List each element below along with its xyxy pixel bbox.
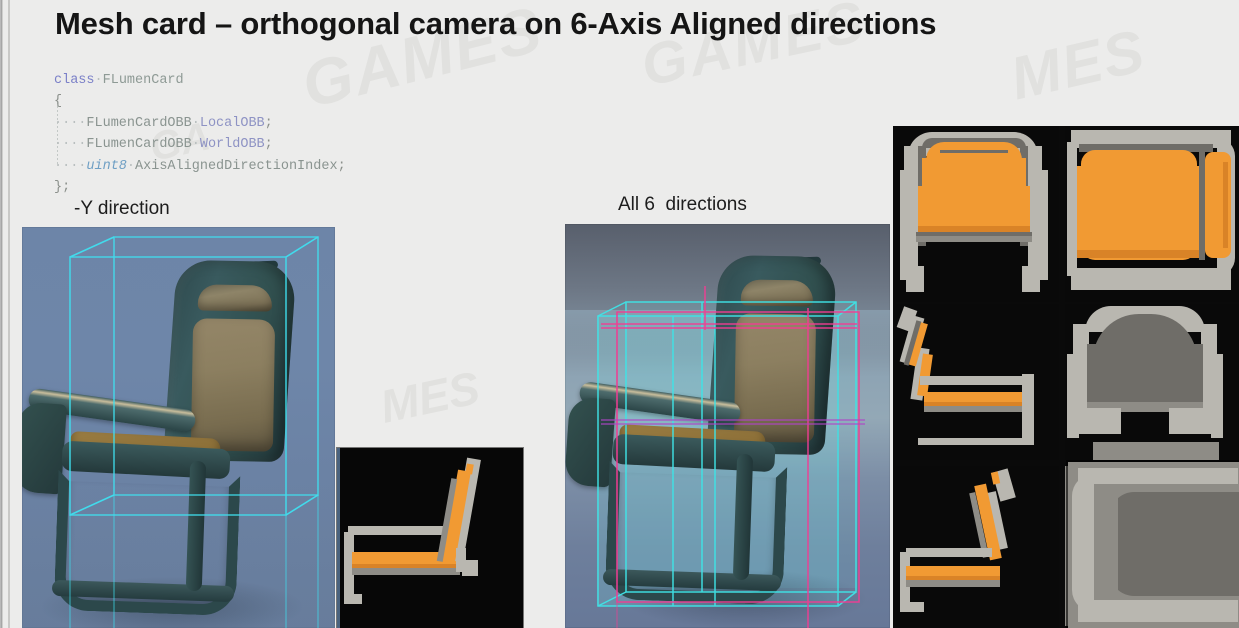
code-token-member: AxisAlignedDirectionIndex — [135, 159, 338, 174]
code-token-indent: ···· — [54, 116, 86, 131]
code-token-space: · — [127, 159, 135, 174]
card-cell-side-minus-x[interactable] — [896, 304, 1059, 460]
code-token-space: · — [192, 137, 200, 152]
code-token-semicolon: ; — [265, 137, 273, 152]
card-cell-side-plus-x[interactable] — [896, 466, 1059, 628]
code-token-keyword: class — [54, 73, 95, 88]
code-token-semicolon: ; — [265, 116, 273, 131]
code-token-identifier: WorldOBB — [200, 137, 265, 152]
viewport-minus-y-direction[interactable] — [22, 227, 335, 628]
card-capture-minus-y[interactable] — [337, 448, 523, 628]
code-token-type: FLumenCardOBB — [86, 137, 191, 152]
grid-gutter-header — [893, 119, 1239, 126]
card-cell-top-plus-z[interactable] — [1065, 126, 1239, 302]
code-token-indent: ···· — [54, 159, 86, 174]
caption-right-viewport: All 6 directions — [618, 194, 747, 216]
grid-edge-left — [893, 126, 896, 628]
code-token-close-brace: }; — [54, 180, 70, 195]
code-token-semicolon: ; — [338, 159, 346, 174]
code-block: class·FLumenCard { ····FLumenCardOBB·Loc… — [54, 70, 346, 200]
code-token-type: FLumenCardOBB — [86, 116, 191, 131]
code-token-primitive: uint8 — [86, 159, 127, 174]
page-edge-shadow — [0, 0, 3, 628]
code-token-brace: { — [54, 94, 62, 109]
card-capture-bottom-right-overlay[interactable] — [1068, 462, 1239, 628]
code-token-classname: FLumenCard — [103, 73, 184, 88]
code-token-identifier: LocalOBB — [200, 116, 265, 131]
card-cell-back-plus-y[interactable] — [1065, 304, 1239, 460]
page-edge-line — [8, 0, 10, 628]
grid-separator-vertical — [1059, 126, 1065, 628]
slide-title: Mesh card – orthogonal camera on 6-Axis … — [55, 6, 936, 42]
code-token-space: · — [192, 116, 200, 131]
viewport-all-6-directions[interactable] — [565, 224, 890, 628]
watermark-text: MES — [1004, 16, 1152, 114]
slide-canvas: GA GAMES GAMES MES MES Mesh card – ortho… — [0, 0, 1239, 628]
caption-left-viewport: -Y direction — [74, 198, 170, 220]
code-token-indent: ···· — [54, 137, 86, 152]
code-token-space: · — [95, 73, 103, 88]
watermark-text: MES — [375, 360, 484, 434]
card-cell-front-minus-y[interactable] — [896, 126, 1059, 302]
